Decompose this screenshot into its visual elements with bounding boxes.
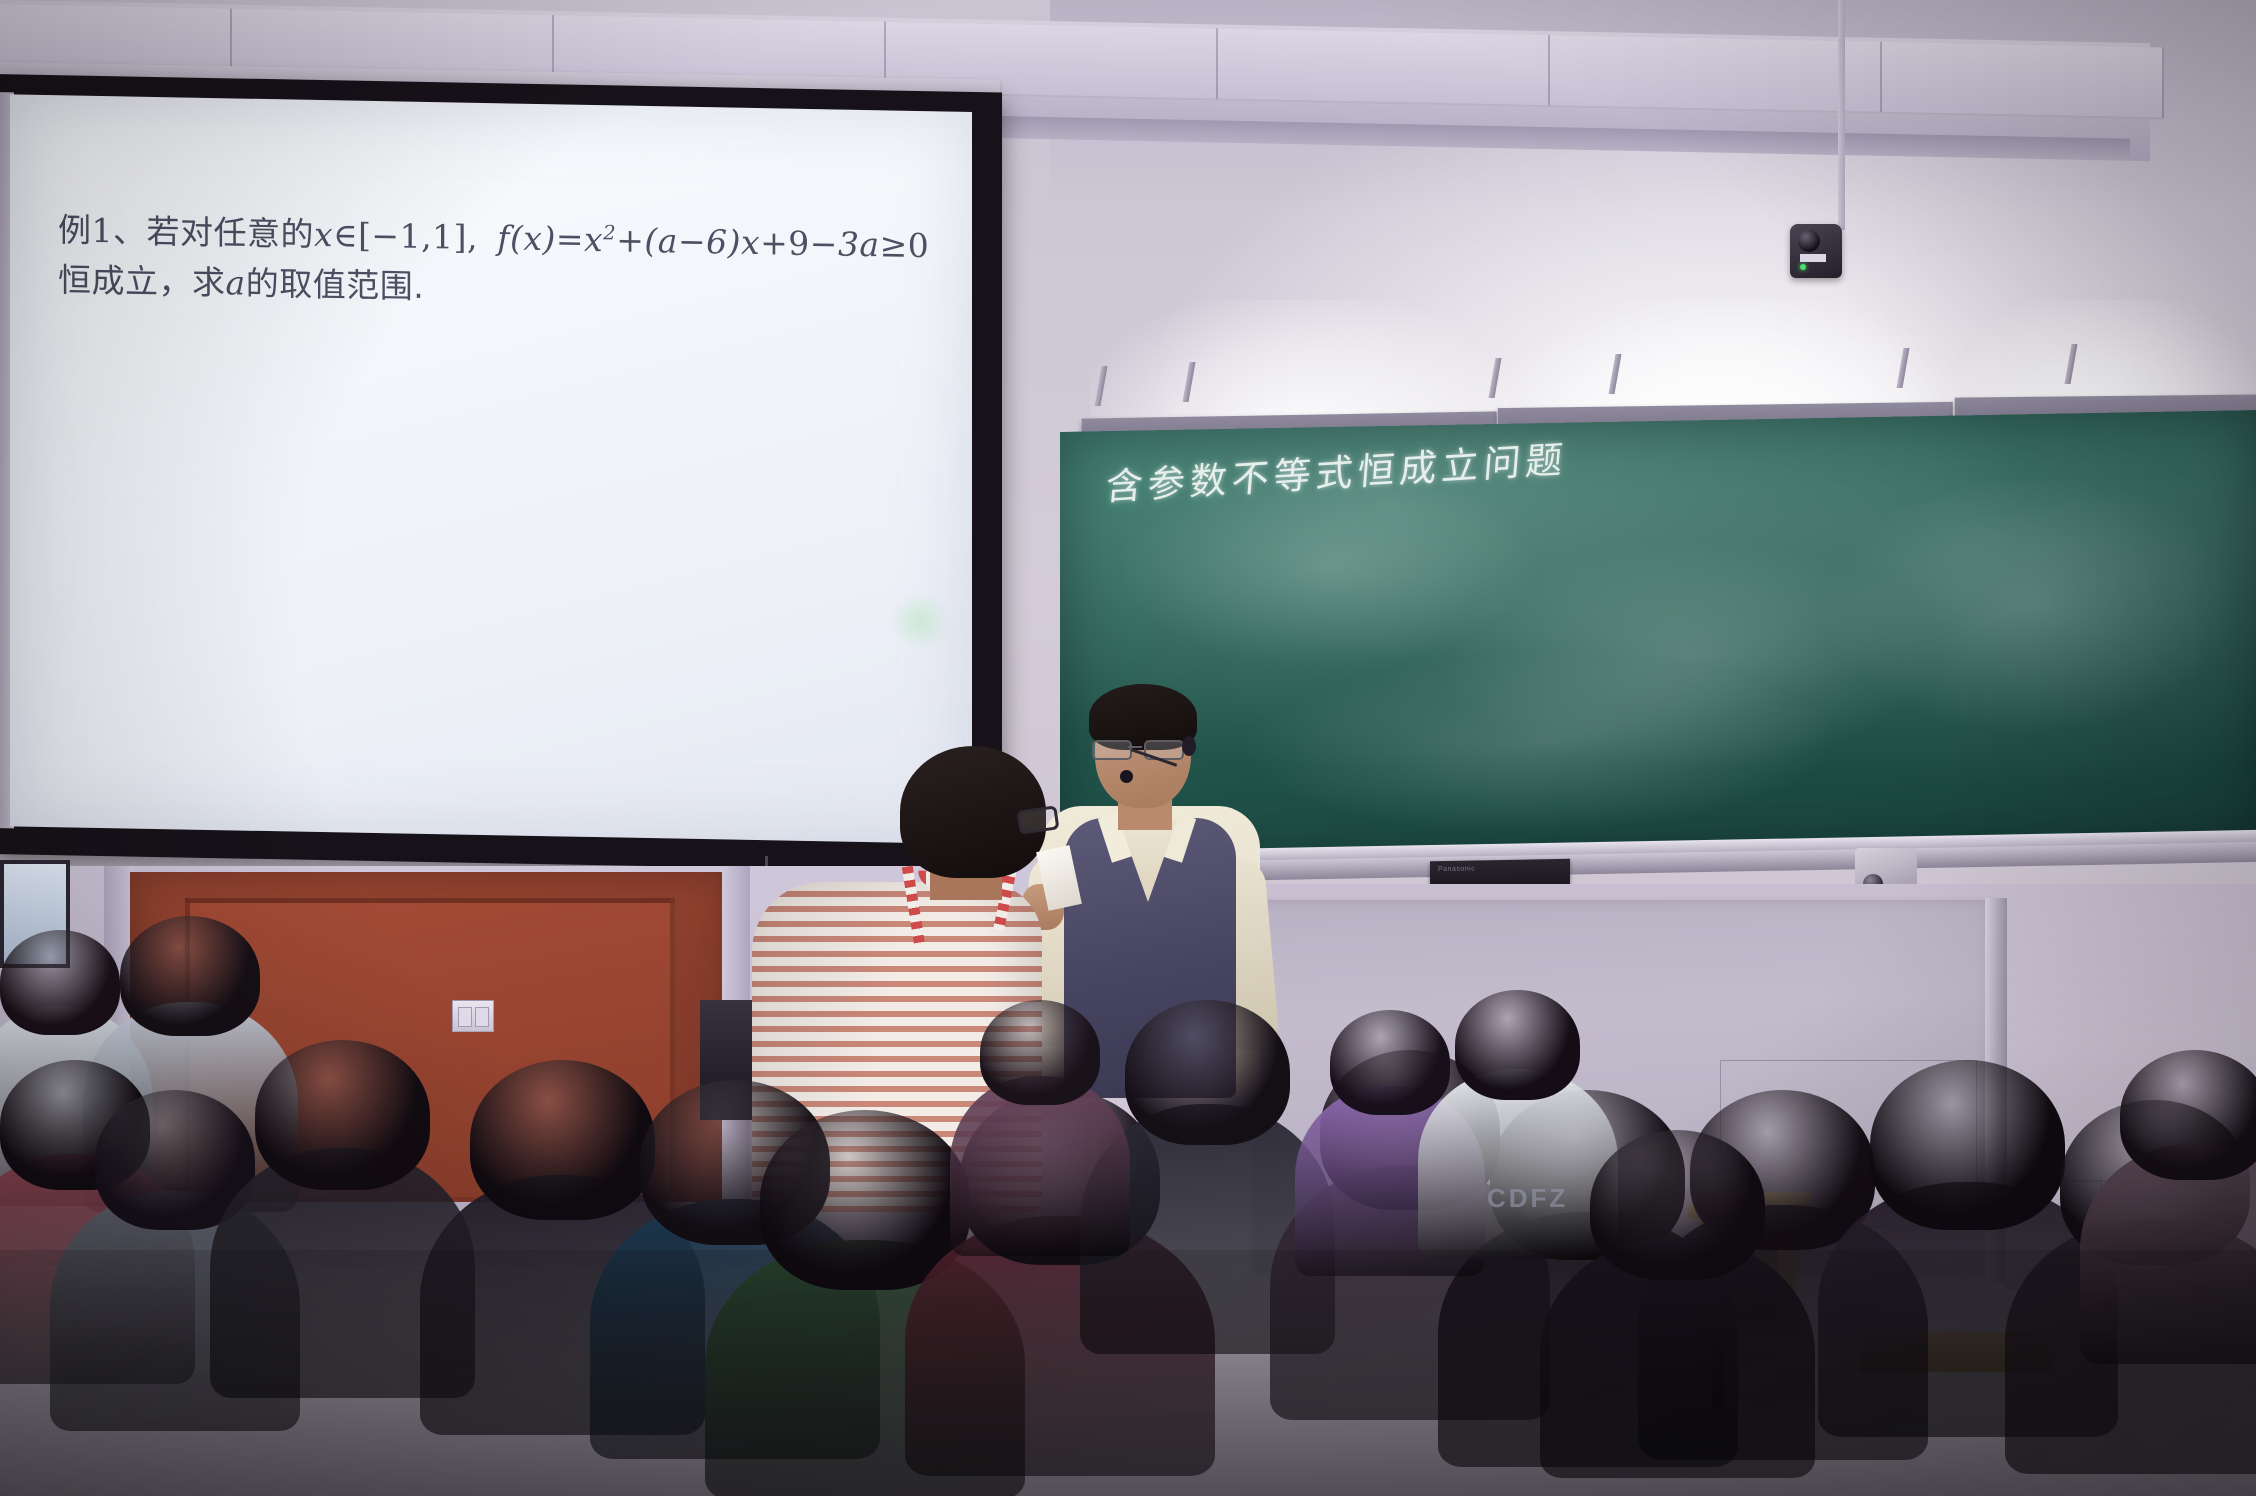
- uniform-text-cdfz: CDFZ: [1487, 1183, 1568, 1214]
- slide-x-squared-base: x: [584, 220, 603, 259]
- teacher-headset-earpiece: [1182, 736, 1196, 756]
- seated-student-head: [1125, 1000, 1290, 1145]
- slide-plus-1: +: [616, 220, 644, 260]
- camera-lens-icon: [1798, 230, 1820, 252]
- slide-example-number: 1: [92, 211, 114, 250]
- slide-fx-paren: (x): [510, 218, 556, 258]
- seated-student-head: [1870, 1060, 2065, 1230]
- slide-line2-cn: 恒成立，求: [58, 260, 226, 302]
- slide-interval: [−1,1]: [358, 216, 467, 257]
- blackboard: 含参数不等式恒成立问题: [1060, 410, 2256, 867]
- camera-led-indicator: [1800, 264, 1806, 270]
- seated-student-head: [2120, 1050, 2256, 1180]
- slide-term-a-minus-6: (a−6): [644, 221, 741, 262]
- screen-surface: 例1、若对任意的x∈[−1,1], f(x)=x2+(a−6)x+9−3a≥0 …: [10, 94, 972, 844]
- seated-student-head: [255, 1040, 430, 1190]
- slide-line2-tail: 的取值范围.: [246, 264, 425, 306]
- seated-student-head: [0, 930, 120, 1035]
- slide-line1-cn: 、若对任意的: [113, 211, 314, 254]
- seated-student-head: [1455, 990, 1580, 1100]
- slide-zero: 0: [908, 226, 930, 265]
- slide-x-squared-exponent: 2: [603, 221, 616, 244]
- seated-student-head: [980, 1000, 1100, 1105]
- slide-comma: ,: [467, 218, 478, 257]
- ceiling-camera-stem: [1838, 0, 1845, 230]
- slide-example-label: 例: [58, 210, 92, 250]
- ceiling-camera: [1790, 224, 1842, 278]
- seated-student-head: [470, 1060, 655, 1220]
- slide-nine: 9: [788, 224, 810, 263]
- slide-equals: =: [556, 219, 584, 259]
- projection-screen: 例1、若对任意的x∈[−1,1], f(x)=x2+(a−6)x+9−3a≥0 …: [0, 74, 1002, 873]
- screen-glare: [890, 590, 950, 651]
- slide-three-a: 3a: [838, 225, 880, 265]
- slide-var-x: x: [314, 215, 333, 254]
- slide-var-x-2: x: [741, 223, 760, 262]
- chalk-tray-box-label: Panasonic: [1438, 865, 1475, 873]
- slide-minus: −: [810, 224, 838, 264]
- light-switch-plate[interactable]: [452, 1000, 494, 1032]
- light-switch-2[interactable]: [475, 1007, 489, 1027]
- seated-student-head: [1330, 1010, 1450, 1115]
- seated-student-head: [120, 916, 260, 1036]
- light-switch-1[interactable]: [458, 1007, 472, 1027]
- teacher-microphone-icon: [1120, 770, 1133, 783]
- classroom-photo: 例1、若对任意的x∈[−1,1], f(x)=x2+(a−6)x+9−3a≥0 …: [0, 0, 2256, 1496]
- slide-content: 例1、若对任意的x∈[−1,1], f(x)=x2+(a−6)x+9−3a≥0 …: [58, 205, 932, 321]
- wall-camera: [1855, 848, 1917, 888]
- camera-strip: [1800, 254, 1826, 262]
- slide-geq: ≥: [880, 225, 908, 265]
- slide-element-of: ∈: [333, 215, 358, 254]
- slide-plus-2: +: [760, 223, 788, 263]
- slide-fx-f: f: [497, 218, 510, 257]
- blackboard-handwritten-title: 含参数不等式恒成立问题: [1104, 429, 1570, 511]
- slide-line2-var-a: a: [226, 263, 246, 302]
- seated-student-head: [1590, 1130, 1765, 1280]
